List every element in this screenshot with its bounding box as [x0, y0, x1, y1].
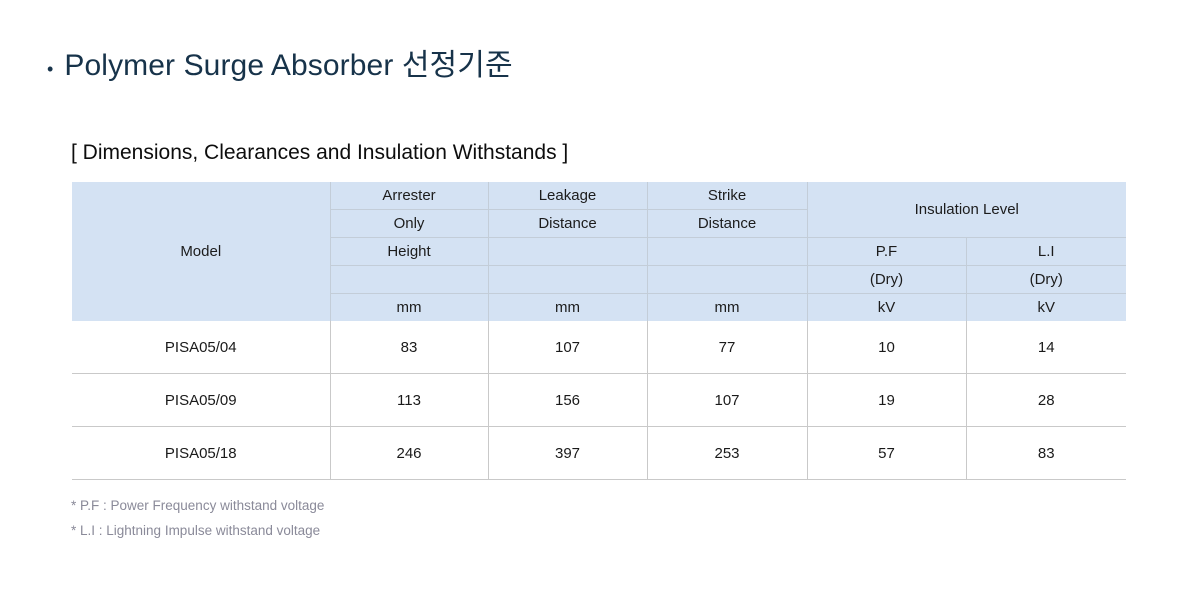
cell-arrester-height: 246 [330, 427, 488, 480]
page-title-text: Polymer Surge Absorber 선정기준 [64, 40, 512, 84]
table-row: PISA05/09 113 156 107 19 28 [72, 374, 1126, 427]
cell-model: PISA05/09 [72, 374, 330, 427]
table-row: PISA05/04 83 107 77 10 14 [72, 321, 1126, 374]
header-strike-unit: mm [647, 294, 807, 322]
cell-model: PISA05/18 [72, 427, 330, 480]
page-title: • Polymer Surge Absorber 선정기준 [47, 40, 513, 84]
header-strike-line2: Distance [647, 210, 807, 238]
header-leakage-unit: mm [488, 294, 647, 322]
header-leakage-line4 [488, 266, 647, 294]
cell-arrester-height: 83 [330, 321, 488, 374]
cell-leakage-distance: 397 [488, 427, 647, 480]
cell-insulation-pf: 19 [807, 374, 966, 427]
header-pf-unit: kV [807, 294, 966, 322]
header-leakage-line3 [488, 238, 647, 266]
footnote-li: * L.I : Lightning Impulse withstand volt… [71, 518, 324, 543]
header-pf-dry: (Dry) [807, 266, 966, 294]
header-strike-line1: Strike [647, 182, 807, 210]
cell-strike-distance: 107 [647, 374, 807, 427]
header-strike-line4 [647, 266, 807, 294]
header-insulation-level: Insulation Level [807, 182, 1126, 238]
specifications-table: Model Arrester Leakage Strike Insulation… [72, 182, 1126, 480]
table-row: PISA05/18 246 397 253 57 83 [72, 427, 1126, 480]
cell-insulation-li: 83 [966, 427, 1126, 480]
header-arrester-line2: Only [330, 210, 488, 238]
cell-leakage-distance: 107 [488, 321, 647, 374]
header-strike-line3 [647, 238, 807, 266]
table-header: Model Arrester Leakage Strike Insulation… [72, 182, 1126, 321]
header-li: L.I [966, 238, 1126, 266]
cell-arrester-height: 113 [330, 374, 488, 427]
cell-insulation-pf: 10 [807, 321, 966, 374]
footnote-pf: * P.F : Power Frequency withstand voltag… [71, 493, 324, 518]
header-arrester-line3: Height [330, 238, 488, 266]
table-body: PISA05/04 83 107 77 10 14 PISA05/09 113 … [72, 321, 1126, 480]
cell-strike-distance: 253 [647, 427, 807, 480]
header-arrester-line1: Arrester [330, 182, 488, 210]
table-caption: [ Dimensions, Clearances and Insulation … [71, 141, 568, 165]
bullet-icon: • [47, 60, 53, 78]
cell-insulation-li: 28 [966, 374, 1126, 427]
cell-strike-distance: 77 [647, 321, 807, 374]
cell-insulation-li: 14 [966, 321, 1126, 374]
cell-insulation-pf: 57 [807, 427, 966, 480]
footnotes: * P.F : Power Frequency withstand voltag… [71, 493, 324, 543]
header-row-1: Model Arrester Leakage Strike Insulation… [72, 182, 1126, 210]
header-leakage-line2: Distance [488, 210, 647, 238]
header-li-dry: (Dry) [966, 266, 1126, 294]
header-arrester-line4 [330, 266, 488, 294]
cell-leakage-distance: 156 [488, 374, 647, 427]
header-pf: P.F [807, 238, 966, 266]
cell-model: PISA05/04 [72, 321, 330, 374]
header-model: Model [72, 182, 330, 321]
header-li-unit: kV [966, 294, 1126, 322]
header-leakage-line1: Leakage [488, 182, 647, 210]
header-arrester-unit: mm [330, 294, 488, 322]
